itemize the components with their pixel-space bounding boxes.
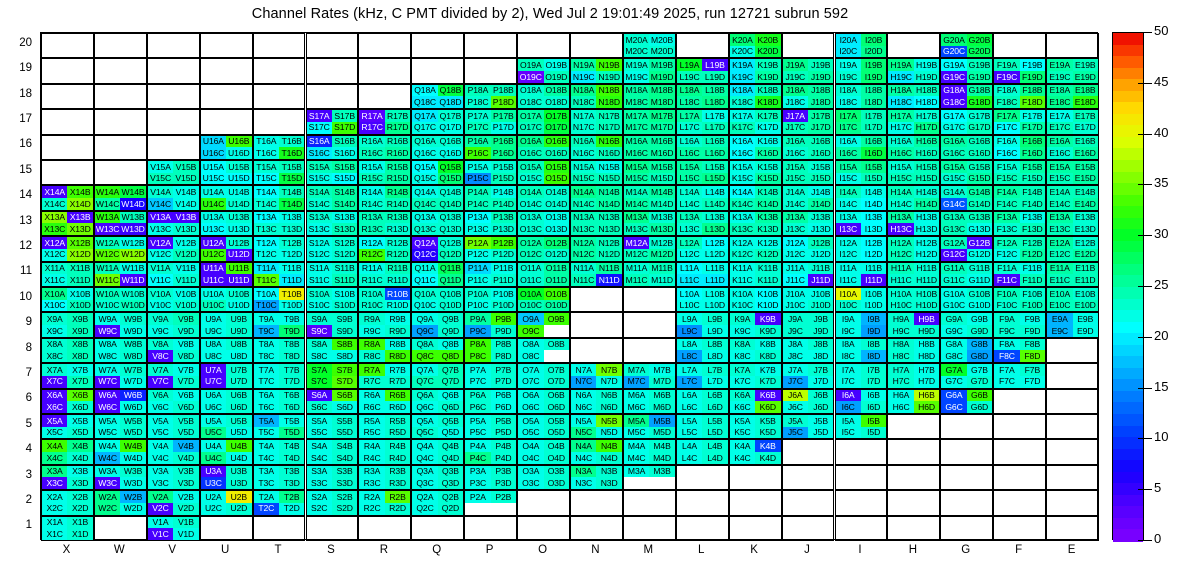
subchannel-V13B[interactable]: V13B [173,212,198,224]
module-cell-T3[interactable]: T3AT3BT3CT3D [253,465,306,490]
subchannel-V8C[interactable]: V8C [148,350,173,362]
module-cell-I18[interactable]: I18AI18BI18CI18D [835,84,888,109]
module-cell-S19[interactable] [306,58,359,83]
module-cell-X8[interactable]: X8AX8BX8CX8D [41,338,94,363]
subchannel-M14C[interactable]: M14C [624,198,649,210]
subchannel-Q12C[interactable]: Q12C [412,249,437,261]
subchannel-E9D[interactable]: E9D [1073,325,1098,337]
subchannel-R14B[interactable]: R14B [385,186,410,198]
subchannel-O6B[interactable]: O6B [544,390,569,402]
subchannel-N3D[interactable]: N3D [596,477,621,489]
subchannel-X11C[interactable]: X11C [42,274,67,286]
subchannel-F16B[interactable]: F16B [1020,136,1045,148]
subchannel-R13A[interactable]: R13A [359,212,384,224]
subchannel-E14B[interactable]: E14B [1073,186,1098,198]
subchannel-I19D[interactable]: I19D [861,71,886,83]
subchannel-O10D[interactable]: O10D [544,300,569,312]
module-cell-S6[interactable]: S6AS6BS6CS6D [306,389,359,414]
subchannel-K14D[interactable]: K14D [755,198,780,210]
subchannel-H10B[interactable]: H10B [914,288,939,300]
subchannel-F8A[interactable]: F8A [994,339,1019,351]
subchannel-K7A[interactable]: K7A [730,364,755,376]
subchannel-U15B[interactable]: U15B [226,161,251,173]
subchannel-L11B[interactable]: L11B [702,263,727,275]
subchannel-V13D[interactable]: V13D [173,223,198,235]
subchannel-K5D[interactable]: K5D [755,427,780,439]
subchannel-J14B[interactable]: J14B [808,186,833,198]
subchannel-H13D[interactable]: H13D [914,223,939,235]
subchannel-S10D[interactable]: S10D [332,300,357,312]
module-cell-I8[interactable]: I8AI8BI8CI8D [835,338,888,363]
subchannel-F12B[interactable]: F12B [1020,237,1045,249]
subchannel-U6B[interactable]: U6B [226,390,251,402]
module-cell-W13[interactable]: W13AW13BW13CW13D [94,211,147,236]
subchannel-S12B[interactable]: S12B [332,237,357,249]
subchannel-V5D[interactable]: V5D [173,427,198,439]
module-cell-T6[interactable]: T6AT6BT6CT6D [253,389,306,414]
subchannel-S2A[interactable]: S2A [307,491,332,503]
subchannel-M16A[interactable]: M16A [624,136,649,148]
subchannel-Q16C[interactable]: Q16C [412,147,437,159]
subchannel-T7C[interactable]: T7C [254,376,279,388]
subchannel-L4C[interactable]: L4C [677,452,702,464]
subchannel-X5C[interactable]: X5C [42,427,67,439]
subchannel-H17B[interactable]: H17B [914,110,939,122]
subchannel-J17C[interactable]: J17C [783,122,808,134]
subchannel-Q5D[interactable]: Q5D [438,427,463,439]
module-cell-W12[interactable]: W12AW12BW12CW12D [94,236,147,261]
subchannel-J5D[interactable]: J5D [808,427,833,439]
subchannel-H8C[interactable]: H8C [888,350,913,362]
module-cell-S16[interactable]: S16AS16BS16CS16D [306,135,359,160]
subchannel-N7B[interactable]: N7B [596,364,621,376]
subchannel-U2A[interactable]: U2A [201,491,226,503]
subchannel-I12D[interactable]: I12D [861,249,886,261]
subchannel-X8B[interactable]: X8B [67,339,92,351]
subchannel-M16C[interactable]: M16C [624,147,649,159]
subchannel-G8A[interactable]: G8A [941,339,966,351]
subchannel-W9D[interactable]: W9D [120,325,145,337]
subchannel-R9B[interactable]: R9B [385,313,410,325]
subchannel-V11A[interactable]: V11A [148,263,173,275]
module-cell-L4[interactable]: L4AL4BL4CL4D [676,439,729,464]
module-cell-M14[interactable]: M14AM14BM14CM14D [623,185,676,210]
subchannel-X5B[interactable]: X5B [67,415,92,427]
subchannel-H10D[interactable]: H10D [914,300,939,312]
subchannel-J11C[interactable]: J11C [783,274,808,286]
subchannel-S10A[interactable]: S10A [307,288,332,300]
module-cell-F4[interactable] [993,439,1046,464]
subchannel-U16B[interactable]: U16B [226,136,251,148]
subchannel-V7B[interactable]: V7B [173,364,198,376]
subchannel-V13A[interactable]: V13A [148,212,173,224]
module-cell-K5[interactable]: K5AK5BK5CK5D [729,414,782,439]
subchannel-U4D[interactable]: U4D [226,452,251,464]
subchannel-O10C[interactable]: O10C [518,300,543,312]
module-cell-L13[interactable]: L13AL13BL13CL13D [676,211,729,236]
subchannel-X13B[interactable]: X13B [67,212,92,224]
module-cell-R14[interactable]: R14AR14BR14CR14D [358,185,411,210]
subchannel-M6D[interactable]: M6D [649,401,674,413]
subchannel-V3A[interactable]: V3A [148,466,173,478]
subchannel-H6A[interactable]: H6A [888,390,913,402]
module-cell-V1[interactable]: V1AV1BV1CV1D [147,516,200,541]
subchannel-W4D[interactable]: W4D [120,452,145,464]
module-cell-O11[interactable]: O11AO11BO11CO11D [517,262,570,287]
module-cell-J12[interactable]: J12AJ12BJ12CJ12D [782,236,835,261]
module-cell-E5[interactable] [1046,414,1099,439]
subchannel-M17B[interactable]: M17B [649,110,674,122]
module-cell-V20[interactable] [147,33,200,58]
subchannel-Q9B[interactable]: Q9B [438,313,463,325]
subchannel-V3B[interactable]: V3B [173,466,198,478]
module-cell-E17[interactable]: E17AE17BE17CE17D [1046,109,1099,134]
module-cell-P12[interactable]: P12AP12BP12CP12D [464,236,517,261]
module-cell-P17[interactable]: P17AP17BP17CP17D [464,109,517,134]
module-cell-Q15[interactable]: Q15AQ15BQ15CQ15D [411,160,464,185]
module-cell-V19[interactable] [147,58,200,83]
subchannel-V4B[interactable]: V4B [173,440,198,452]
subchannel-G9A[interactable]: G9A [941,313,966,325]
subchannel-I18D[interactable]: I18D [861,96,886,108]
subchannel-R8C[interactable]: R8C [359,350,384,362]
subchannel-U6D[interactable]: U6D [226,401,251,413]
subchannel-U12B[interactable]: U12B [226,237,251,249]
subchannel-K20A[interactable]: K20A [730,34,755,46]
module-cell-P9[interactable]: P9AP9BP9CP9D [464,312,517,337]
subchannel-S3C[interactable]: S3C [307,477,332,489]
subchannel-H15D[interactable]: H15D [914,173,939,185]
subchannel-R6B[interactable]: R6B [385,390,410,402]
subchannel-G7D[interactable]: G7D [967,376,992,388]
subchannel-J16A[interactable]: J16A [783,136,808,148]
subchannel-E17D[interactable]: E17D [1073,122,1098,134]
subchannel-S5C[interactable]: S5C [307,427,332,439]
subchannel-Q17C[interactable]: Q17C [412,122,437,134]
subchannel-J12D[interactable]: J12D [808,249,833,261]
subchannel-I9D[interactable]: I9D [861,325,886,337]
module-cell-E10[interactable]: E10AE10BE10CE10D [1046,287,1099,312]
module-cell-W10[interactable]: W10AW10BW10CW10D [94,287,147,312]
subchannel-F11B[interactable]: F11B [1020,263,1045,275]
module-cell-E11[interactable]: E11AE11BE11CE11D [1046,262,1099,287]
subchannel-T6B[interactable]: T6B [279,390,304,402]
subchannel-J7A[interactable]: J7A [783,364,808,376]
subchannel-K8B[interactable]: K8B [755,339,780,351]
subchannel-R12C[interactable]: R12C [359,249,384,261]
subchannel-I6D[interactable]: I6D [861,401,886,413]
subchannel-U3C[interactable]: U3C [201,477,226,489]
subchannel-L19B[interactable]: L19B [702,59,727,71]
subchannel-S10C[interactable]: S10C [307,300,332,312]
subchannel-T7D[interactable]: T7D [279,376,304,388]
subchannel-V8D[interactable]: V8D [173,350,198,362]
subchannel-J10C[interactable]: J10C [783,300,808,312]
subchannel-W4C[interactable]: W4C [95,452,120,464]
subchannel-P7A[interactable]: P7A [465,364,490,376]
module-cell-O20[interactable] [517,33,570,58]
subchannel-Q17D[interactable]: Q17D [438,122,463,134]
module-cell-T20[interactable] [253,33,306,58]
subchannel-V14C[interactable]: V14C [148,198,173,210]
subchannel-S6A[interactable]: S6A [307,390,332,402]
subchannel-S6D[interactable]: S6D [332,401,357,413]
module-cell-F12[interactable]: F12AF12BF12CF12D [993,236,1046,261]
subchannel-R13B[interactable]: R13B [385,212,410,224]
subchannel-T8C[interactable]: T8C [254,350,279,362]
module-cell-X16[interactable] [41,135,94,160]
module-cell-G3[interactable] [940,465,993,490]
module-cell-H19[interactable]: H19AH19BH19CH19D [887,58,940,83]
subchannel-H19D[interactable]: H19D [914,71,939,83]
module-cell-F7[interactable]: F7AF7BF7CF7D [993,363,1046,388]
subchannel-I15A[interactable]: I15A [836,161,861,173]
subchannel-J11D[interactable]: J11D [808,274,833,286]
subchannel-Q11A[interactable]: Q11A [412,263,437,275]
subchannel-I15D[interactable]: I15D [861,173,886,185]
subchannel-F17A[interactable]: F17A [994,110,1019,122]
subchannel-L4A[interactable]: L4A [677,440,702,452]
subchannel-V1A[interactable]: V1A [148,517,173,529]
subchannel-I7D[interactable]: I7D [861,376,886,388]
subchannel-P17B[interactable]: P17B [491,110,516,122]
subchannel-P10C[interactable]: P10C [465,300,490,312]
module-cell-Q12[interactable]: Q12AQ12BQ12CQ12D [411,236,464,261]
subchannel-T4A[interactable]: T4A [254,440,279,452]
subchannel-P4A[interactable]: P4A [465,440,490,452]
module-cell-P3[interactable]: P3AP3BP3CP3D [464,465,517,490]
subchannel-E12A[interactable]: E12A [1047,237,1072,249]
subchannel-W12A[interactable]: W12A [95,237,120,249]
subchannel-I18A[interactable]: I18A [836,85,861,97]
subchannel-F17C[interactable]: F17C [994,122,1019,134]
subchannel-N7A[interactable]: N7A [571,364,596,376]
subchannel-I6A[interactable]: I6A [836,390,861,402]
subchannel-W13B[interactable]: W13B [120,212,145,224]
subchannel-E17A[interactable]: E17A [1047,110,1072,122]
subchannel-V14A[interactable]: V14A [148,186,173,198]
subchannel-S5A[interactable]: S5A [307,415,332,427]
subchannel-P7B[interactable]: P7B [491,364,516,376]
subchannel-O8B[interactable]: O8B [544,339,569,351]
subchannel-J6A[interactable]: J6A [783,390,808,402]
subchannel-R16D[interactable]: R16D [385,147,410,159]
module-cell-I9[interactable]: I9AI9BI9CI9D [835,312,888,337]
subchannel-E9C[interactable]: E9C [1047,325,1072,337]
subchannel-L19D[interactable]: L19D [702,71,727,83]
module-cell-U8[interactable]: U8AU8BU8CU8D [200,338,253,363]
module-cell-S7[interactable]: S7AS7BS7CS7D [306,363,359,388]
subchannel-Q4D[interactable]: Q4D [438,452,463,464]
subchannel-S14A[interactable]: S14A [307,186,332,198]
subchannel-V14B[interactable]: V14B [173,186,198,198]
module-cell-E8[interactable] [1046,338,1099,363]
subchannel-I7C[interactable]: I7C [836,376,861,388]
subchannel-R17C[interactable]: R17C [359,122,384,134]
module-cell-W9[interactable]: W9AW9BW9CW9D [94,312,147,337]
subchannel-J16D[interactable]: J16D [808,147,833,159]
subchannel-O3A[interactable]: O3A [518,466,543,478]
module-cell-H17[interactable]: H17AH17BH17CH17D [887,109,940,134]
module-cell-I14[interactable]: I14AI14BI14CI14D [835,185,888,210]
subchannel-M14B[interactable]: M14B [649,186,674,198]
subchannel-E10C[interactable]: E10C [1047,300,1072,312]
subchannel-L6C[interactable]: L6C [677,401,702,413]
subchannel-G14C[interactable]: G14C [941,198,966,210]
subchannel-G12B[interactable]: G12B [967,237,992,249]
module-cell-I12[interactable]: I12AI12BI12CI12D [835,236,888,261]
subchannel-S16B[interactable]: S16B [332,136,357,148]
subchannel-Q7B[interactable]: Q7B [438,364,463,376]
subchannel-P6A[interactable]: P6A [465,390,490,402]
module-cell-S9[interactable]: S9AS9BS9CS9D [306,312,359,337]
module-cell-V7[interactable]: V7AV7BV7CV7D [147,363,200,388]
subchannel-I8C[interactable]: I8C [836,350,861,362]
subchannel-V7A[interactable]: V7A [148,364,173,376]
module-cell-X3[interactable]: X3AX3BX3CX3D [41,465,94,490]
subchannel-E14A[interactable]: E14A [1047,186,1072,198]
subchannel-T9A[interactable]: T9A [254,313,279,325]
module-cell-T15[interactable]: T15AT15BT15CT15D [253,160,306,185]
subchannel-W12C[interactable]: W12C [95,249,120,261]
module-cell-P19[interactable] [464,58,517,83]
subchannel-R12A[interactable]: R12A [359,237,384,249]
subchannel-Q18B[interactable]: Q18B [438,85,463,97]
subchannel-U14B[interactable]: U14B [226,186,251,198]
subchannel-G10C[interactable]: G10C [941,300,966,312]
module-cell-P16[interactable]: P16AP16BP16CP16D [464,135,517,160]
module-cell-T7[interactable]: T7AT7BT7CT7D [253,363,306,388]
subchannel-R15D[interactable]: R15D [385,173,410,185]
subchannel-O15A[interactable]: O15A [518,161,543,173]
subchannel-Q17B[interactable]: Q17B [438,110,463,122]
subchannel-Q16B[interactable]: Q16B [438,136,463,148]
subchannel-M7D[interactable]: M7D [649,376,674,388]
subchannel-Q13B[interactable]: Q13B [438,212,463,224]
subchannel-H12C[interactable]: H12C [888,249,913,261]
subchannel-U4B[interactable]: U4B [226,440,251,452]
module-cell-I1[interactable] [835,516,888,541]
subchannel-L12B[interactable]: L12B [702,237,727,249]
subchannel-P16A[interactable]: P16A [465,136,490,148]
subchannel-U6C[interactable]: U6C [201,401,226,413]
subchannel-K15D[interactable]: K15D [755,173,780,185]
module-cell-S2[interactable]: S2AS2BS2CS2D [306,490,359,515]
subchannel-L7A[interactable]: L7A [677,364,702,376]
subchannel-P3B[interactable]: P3B [491,466,516,478]
subchannel-J10D[interactable]: J10D [808,300,833,312]
subchannel-Q2C[interactable]: Q2C [412,503,437,515]
subchannel-T2D[interactable]: T2D [279,503,304,515]
module-cell-W2[interactable]: W2AW2BW2CW2D [94,490,147,515]
subchannel-I14C[interactable]: I14C [836,198,861,210]
module-cell-P11[interactable]: P11AP11BP11CP11D [464,262,517,287]
subchannel-G19B[interactable]: G19B [967,59,992,71]
subchannel-L13B[interactable]: L13B [702,212,727,224]
module-cell-U6[interactable]: U6AU6BU6CU6D [200,389,253,414]
module-cell-S14[interactable]: S14AS14BS14CS14D [306,185,359,210]
subchannel-W6C[interactable]: W6C [95,401,120,413]
subchannel-R9A[interactable]: R9A [359,313,384,325]
module-cell-R3[interactable]: R3AR3BR3CR3D [358,465,411,490]
subchannel-V6D[interactable]: V6D [173,401,198,413]
subchannel-T16D[interactable]: T16D [279,147,304,159]
subchannel-V3C[interactable]: V3C [148,477,173,489]
module-cell-J1[interactable] [782,516,835,541]
subchannel-T2B[interactable]: T2B [279,491,304,503]
subchannel-T7A[interactable]: T7A [254,364,279,376]
subchannel-O4A[interactable]: O4A [518,440,543,452]
module-cell-O7[interactable]: O7AO7BO7CO7D [517,363,570,388]
subchannel-Q3D[interactable]: Q3D [438,477,463,489]
subchannel-X2A[interactable]: X2A [42,491,67,503]
subchannel-K11A[interactable]: K11A [730,263,755,275]
module-cell-K6[interactable]: K6AK6BK6CK6D [729,389,782,414]
subchannel-I12B[interactable]: I12B [861,237,886,249]
module-cell-Q4[interactable]: Q4AQ4BQ4CQ4D [411,439,464,464]
subchannel-R14D[interactable]: R14D [385,198,410,210]
subchannel-L18D[interactable]: L18D [702,96,727,108]
subchannel-K15C[interactable]: K15C [730,173,755,185]
subchannel-T13B[interactable]: T13B [279,212,304,224]
subchannel-L12D[interactable]: L12D [702,249,727,261]
subchannel-N4A[interactable]: N4A [571,440,596,452]
subchannel-K10A[interactable]: K10A [730,288,755,300]
module-cell-R9[interactable]: R9AR9BR9CR9D [358,312,411,337]
subchannel-U3B[interactable]: U3B [226,466,251,478]
subchannel-S9A[interactable]: S9A [307,313,332,325]
subchannel-X9D[interactable]: X9D [67,325,92,337]
subchannel-M11A[interactable]: M11A [624,263,649,275]
subchannel-I19A[interactable]: I19A [836,59,861,71]
module-cell-H5[interactable] [887,414,940,439]
module-cell-L5[interactable]: L5AL5BL5CL5D [676,414,729,439]
subchannel-V5A[interactable]: V5A [148,415,173,427]
subchannel-V7C[interactable]: V7C [148,376,173,388]
subchannel-R8A[interactable]: R8A [359,339,384,351]
subchannel-E19C[interactable]: E19C [1047,71,1072,83]
module-cell-L8[interactable]: L8AL8BL8CL8D [676,338,729,363]
subchannel-R6A[interactable]: R6A [359,390,384,402]
subchannel-V12B[interactable]: V12B [173,237,198,249]
subchannel-L17D[interactable]: L17D [702,122,727,134]
module-cell-R20[interactable] [358,33,411,58]
subchannel-T4B[interactable]: T4B [279,440,304,452]
module-cell-F6[interactable] [993,389,1046,414]
module-cell-S1[interactable] [306,516,359,541]
module-cell-T1[interactable] [253,516,306,541]
subchannel-I13D[interactable]: I13D [861,223,886,235]
subchannel-O16A[interactable]: O16A [518,136,543,148]
subchannel-Q15B[interactable]: Q15B [438,161,463,173]
module-cell-O18[interactable]: O18AO18BO18CO18D [517,84,570,109]
subchannel-J9D[interactable]: J9D [808,325,833,337]
subchannel-V2B[interactable]: V2B [173,491,198,503]
subchannel-U7C[interactable]: U7C [201,376,226,388]
subchannel-W13A[interactable]: W13A [95,212,120,224]
subchannel-S9D[interactable]: S9D [332,325,357,337]
module-cell-V5[interactable]: V5AV5BV5CV5D [147,414,200,439]
subchannel-X10C[interactable]: X10C [42,300,67,312]
subchannel-W7C[interactable]: W7C [95,376,120,388]
module-cell-E1[interactable] [1046,516,1099,541]
module-cell-I3[interactable] [835,465,888,490]
subchannel-V8B[interactable]: V8B [173,339,198,351]
subchannel-I16D[interactable]: I16D [861,147,886,159]
subchannel-T12A[interactable]: T12A [254,237,279,249]
subchannel-S7B[interactable]: S7B [332,364,357,376]
module-cell-T17[interactable] [253,109,306,134]
